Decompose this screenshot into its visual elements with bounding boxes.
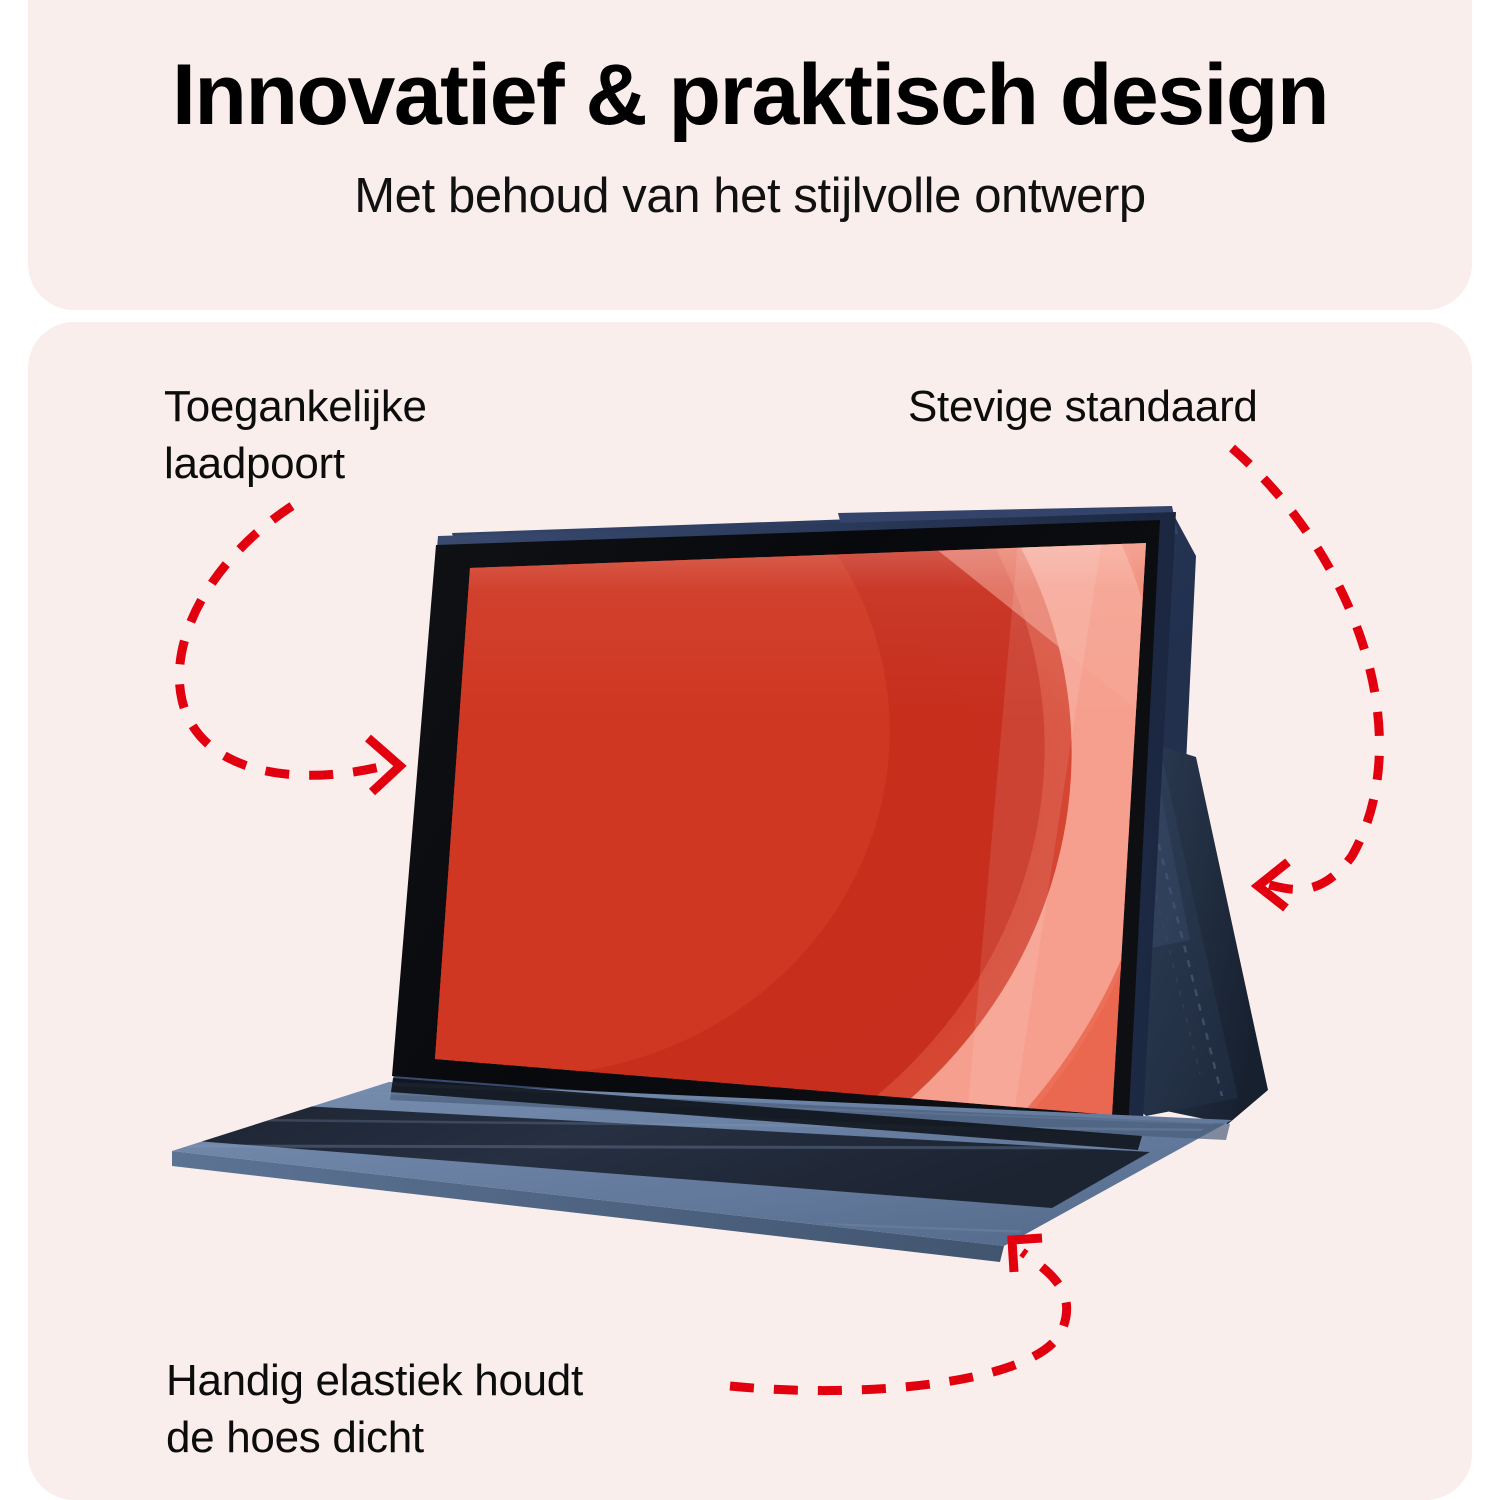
callout-charging-port: Toegankelijke laadpoort xyxy=(164,378,427,492)
callout-elastic-line2: de hoes dicht xyxy=(166,1409,583,1466)
callout-stand-line1: Stevige standaard xyxy=(908,378,1258,435)
callout-elastic-line1: Handig elastiek houdt xyxy=(166,1352,583,1409)
page-subtitle: Met behoud van het stijlvolle ontwerp xyxy=(0,172,1500,221)
page-title: Innovatief & praktisch design xyxy=(0,52,1500,138)
product-panel xyxy=(28,322,1472,1500)
callout-charging-port-line1: Toegankelijke xyxy=(164,378,427,435)
callout-stand: Stevige standaard xyxy=(908,378,1258,435)
callout-charging-port-line2: laadpoort xyxy=(164,435,427,492)
infographic-stage: Innovatief & praktisch design Met behoud… xyxy=(0,0,1500,1500)
callout-elastic: Handig elastiek houdt de hoes dicht xyxy=(166,1352,583,1466)
